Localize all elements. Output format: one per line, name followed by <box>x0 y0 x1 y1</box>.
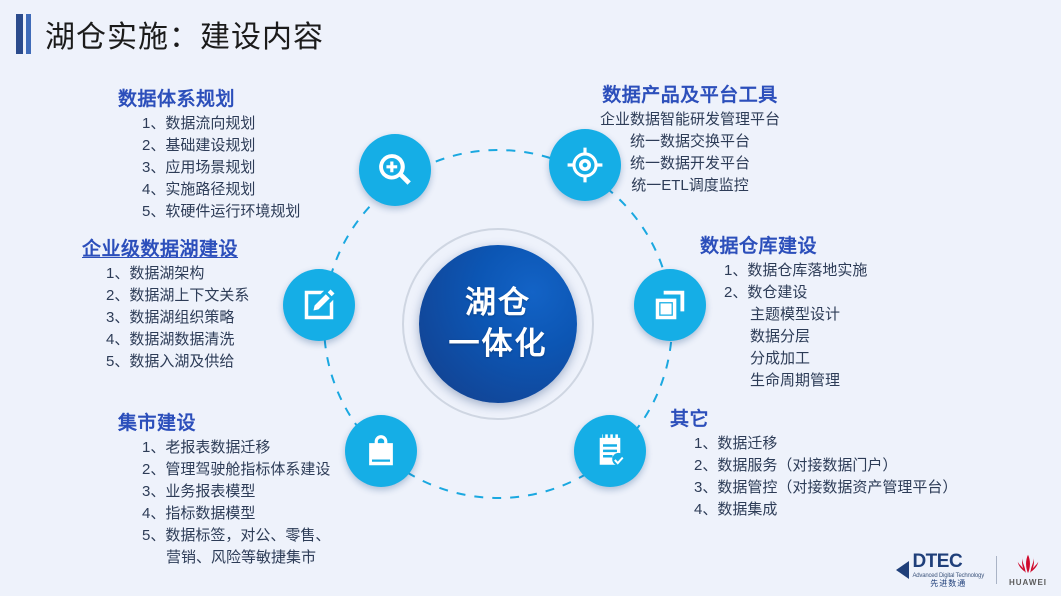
list-data-product-platform: 企业数据智能研发管理平台 统一数据交换平台 统一数据开发平台 统一ETL调度监控 <box>600 109 780 197</box>
logo-divider <box>996 556 997 584</box>
node-data-mart[interactable] <box>345 415 417 487</box>
list-item: 生命周期管理 <box>724 370 867 392</box>
list-item: 5、数据标签，对公、零售、 <box>142 525 330 547</box>
list-data-system-planning: 1、数据流向规划 2、基础建设规划 3、应用场景规划 4、实施路径规划 5、软硬… <box>118 113 300 223</box>
heading-data-product-platform: 数据产品及平台工具 <box>600 80 780 107</box>
heading-data-warehouse: 数据仓库建设 <box>700 231 867 258</box>
list-item: 统一ETL调度监控 <box>600 175 780 197</box>
list-item: 主题模型设计 <box>724 304 867 326</box>
huawei-flower-icon <box>1011 553 1045 577</box>
list-item: 4、数据集成 <box>694 499 957 521</box>
block-others: 其它 1、数据迁移 2、数据服务（对接数据门户） 3、数据管控（对接数据资产管理… <box>670 404 957 521</box>
dtec-logo: DTEC Advanced Digital Technology 先进数通 <box>896 552 984 588</box>
footer-logos: DTEC Advanced Digital Technology 先进数通 HU… <box>896 552 1047 588</box>
list-item: 分成加工 <box>724 348 867 370</box>
hub-line-1: 湖仓 <box>465 284 531 323</box>
list-item: 4、实施路径规划 <box>142 179 300 201</box>
list-item-continuation: 营销、风险等敏捷集市 <box>142 547 330 569</box>
heading-others: 其它 <box>670 404 957 431</box>
list-data-mart: 1、老报表数据迁移 2、管理驾驶舱指标体系建设 3、业务报表模型 4、指标数据模… <box>118 437 330 569</box>
list-item: 3、数据管控（对接数据资产管理平台） <box>694 477 957 499</box>
block-data-product-platform: 数据产品及平台工具 企业数据智能研发管理平台 统一数据交换平台 统一数据开发平台… <box>600 80 780 197</box>
node-others[interactable] <box>574 415 646 487</box>
list-item: 1、数据湖架构 <box>106 263 249 285</box>
list-item: 数据分层 <box>724 326 867 348</box>
list-item: 3、应用场景规划 <box>142 157 300 179</box>
list-item: 4、数据湖数据清洗 <box>106 329 249 351</box>
node-data-warehouse[interactable] <box>634 269 706 341</box>
list-item: 1、数据迁移 <box>694 433 957 455</box>
edit-square-icon <box>300 286 338 324</box>
block-data-system-planning: 数据体系规划 1、数据流向规划 2、基础建设规划 3、应用场景规划 4、实施路径… <box>118 84 300 223</box>
list-enterprise-data-lake: 1、数据湖架构 2、数据湖上下文关系 3、数据湖组织策略 4、数据湖数据清洗 5… <box>82 263 249 373</box>
copy-layers-icon <box>651 286 689 324</box>
list-item: 3、数据湖组织策略 <box>106 307 249 329</box>
heading-data-system-planning: 数据体系规划 <box>118 84 300 111</box>
list-item: 3、业务报表模型 <box>142 481 330 503</box>
list-item: 4、指标数据模型 <box>142 503 330 525</box>
list-item: 1、数据仓库落地实施 <box>724 260 867 282</box>
list-item: 2、管理驾驶舱指标体系建设 <box>142 459 330 481</box>
heading-data-mart: 集市建设 <box>118 408 330 435</box>
hub-line-2: 一体化 <box>449 325 548 364</box>
list-item: 统一数据开发平台 <box>600 153 780 175</box>
list-others: 1、数据迁移 2、数据服务（对接数据门户） 3、数据管控（对接数据资产管理平台）… <box>670 433 957 521</box>
list-item: 2、数据湖上下文关系 <box>106 285 249 307</box>
node-data-system-planning[interactable] <box>359 134 431 206</box>
list-item: 5、软硬件运行环境规划 <box>142 201 300 223</box>
dtec-brand-text: DTEC <box>912 552 984 571</box>
list-data-warehouse: 1、数据仓库落地实施 2、数仓建设 主题模型设计 数据分层 分成加工 生命周期管… <box>700 260 867 392</box>
list-item: 统一数据交换平台 <box>600 131 780 153</box>
list-item: 5、数据入湖及供给 <box>106 351 249 373</box>
huawei-logo: HUAWEI <box>1009 553 1047 587</box>
magnifier-plus-icon <box>376 151 414 189</box>
block-data-mart: 集市建设 1、老报表数据迁移 2、管理驾驶舱指标体系建设 3、业务报表模型 4、… <box>118 408 330 569</box>
list-item: 2、数据服务（对接数据门户） <box>694 455 957 477</box>
list-item: 1、老报表数据迁移 <box>142 437 330 459</box>
list-item: 1、数据流向规划 <box>142 113 300 135</box>
block-data-warehouse: 数据仓库建设 1、数据仓库落地实施 2、数仓建设 主题模型设计 数据分层 分成加… <box>700 231 867 392</box>
target-icon <box>566 146 604 184</box>
shopping-bag-icon <box>362 432 400 470</box>
notepad-check-icon <box>591 432 629 470</box>
list-item: 2、数仓建设 <box>724 282 867 304</box>
center-hub: 湖仓 一体化 <box>419 245 577 403</box>
list-item: 2、基础建设规划 <box>142 135 300 157</box>
node-enterprise-data-lake[interactable] <box>283 269 355 341</box>
dtec-chinese-name: 先进数通 <box>912 580 984 588</box>
huawei-brand-text: HUAWEI <box>1009 579 1047 587</box>
dtec-arrow-icon <box>896 561 909 579</box>
list-item: 企业数据智能研发管理平台 <box>600 109 780 131</box>
heading-enterprise-data-lake: 企业级数据湖建设 <box>82 234 249 261</box>
block-enterprise-data-lake: 企业级数据湖建设 1、数据湖架构 2、数据湖上下文关系 3、数据湖组织策略 4、… <box>82 234 249 373</box>
